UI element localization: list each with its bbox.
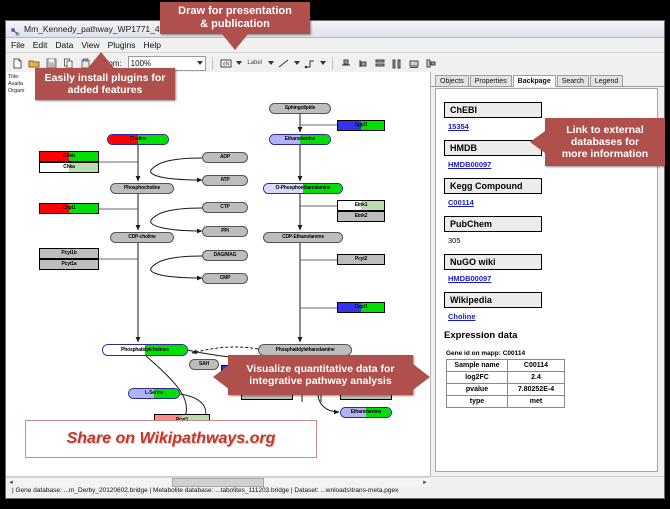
callout-plugins-text: Easily install plugins foradded features	[45, 72, 166, 96]
nugo-link[interactable]: HMDB00097	[448, 274, 649, 283]
callout-plugins-arrow	[88, 52, 114, 68]
distribute-vertical-icon[interactable]	[373, 56, 387, 70]
pathway-node-cdp_ethanolamine[interactable]: CDP-Ethanolamine	[263, 232, 343, 243]
pubchem-header: PubChem	[444, 216, 542, 232]
node-label: Cept1	[355, 305, 368, 310]
pathway-node-etnk2[interactable]: Etnk2	[337, 211, 385, 222]
cell-key: type	[447, 396, 508, 408]
node-label: ATP	[220, 178, 229, 183]
node-label: Etnk1	[355, 203, 368, 208]
table-row: log2FC 2.4	[447, 372, 565, 384]
pathway-node-chkb[interactable]: Chkb	[39, 151, 99, 162]
pathway-node-ppi[interactable]: PPi	[202, 226, 248, 237]
callout-visualize-arrow-left	[213, 364, 230, 390]
tab-search[interactable]: Search	[557, 75, 589, 86]
kegg-link[interactable]: C00114	[448, 198, 649, 207]
wikipedia-header: Wikipedia	[444, 292, 542, 308]
canvas-hscrollbar[interactable]: ◄ ►	[6, 477, 430, 487]
node-label: SAH	[199, 362, 209, 367]
node-label: Chkb	[63, 154, 75, 159]
node-label: Chka	[63, 165, 74, 170]
svg-text:dN: dN	[222, 61, 229, 67]
pathway-node-ctp[interactable]: CTP	[202, 202, 248, 213]
chevron-down-icon[interactable]	[236, 61, 242, 65]
stack-icon[interactable]	[407, 56, 421, 70]
hmdb-header: HMDB	[444, 140, 542, 156]
cell-value: C00114	[508, 360, 565, 372]
node-label: L-Serine	[145, 391, 163, 396]
node-label: Phosphocholine	[124, 186, 160, 191]
pathway-node-cdp_choline[interactable]: CDP-choline	[110, 232, 174, 243]
cell-value: met	[508, 396, 565, 408]
pathway-node-ethanolamine_top[interactable]: Ethanolamine	[269, 134, 331, 145]
pathway-node-phosphatidylcholines[interactable]: Phosphatidylcholines	[102, 344, 188, 356]
node-label: Pcyt2	[355, 257, 367, 262]
node-label: Pcyt1b	[61, 251, 76, 256]
node-label: Ethanolamine	[285, 137, 315, 142]
chebi-header: ChEBI	[444, 102, 542, 118]
distribute-horizontal-icon[interactable]	[390, 56, 404, 70]
menu-help[interactable]: Help	[144, 40, 161, 50]
node-label: Phosphatidylethanolamine	[276, 348, 335, 353]
pathway-node-sgpl1[interactable]: Sgpl1	[337, 120, 385, 131]
node-label: CDP-choline	[128, 235, 156, 240]
node-label: Sphingolipids	[285, 106, 315, 111]
menu-file[interactable]: File	[11, 40, 25, 50]
label-icon[interactable]: Label	[245, 56, 265, 70]
group-icon[interactable]	[424, 56, 438, 70]
menu-edit[interactable]: Edit	[33, 40, 48, 50]
callout-links-text: Link to externaldatabases formore inform…	[562, 124, 648, 160]
tab-legend[interactable]: Legend	[590, 75, 623, 86]
cell-value: 7.80252E-4	[508, 384, 565, 396]
callout-draw: Draw for presentation& publication	[160, 2, 310, 34]
pathway-node-phosphocholine[interactable]: Phosphocholine	[110, 183, 174, 194]
callout-links-arrow	[530, 131, 545, 153]
tab-properties[interactable]: Properties	[470, 75, 512, 86]
table-row: pvalue 7.80252E-4	[447, 384, 565, 396]
callout-visualize-text: Visualize quantitative data forintegrati…	[246, 363, 394, 387]
side-panel-tabs: Objects Properties Backpage Search Legen…	[431, 72, 664, 87]
pathway-node-cept1[interactable]: Cept1	[337, 302, 385, 313]
pathway-node-sphingolipids[interactable]: Sphingolipids	[269, 103, 331, 114]
pathway-node-adp[interactable]: ADP	[202, 152, 248, 163]
pathway-node-chpt1[interactable]: Chpt1	[39, 203, 99, 214]
expression-data-title: Expression data	[444, 330, 649, 341]
pathway-node-cmp[interactable]: CMP	[202, 273, 248, 284]
node-label: Sgpl1	[355, 123, 368, 128]
node-label: CMP	[220, 276, 231, 281]
line-icon[interactable]	[277, 56, 291, 70]
menu-plugins[interactable]: Plugins	[108, 40, 136, 50]
node-label: Etnk2	[355, 214, 368, 219]
pathway-canvas[interactable]: Title: Availa Organi	[6, 72, 431, 476]
zoom-value: 100%	[131, 59, 151, 68]
pathway-node-dagmag[interactable]: DAG/MAG	[202, 250, 248, 261]
callout-draw-arrow	[222, 34, 248, 50]
node-label: Pcyt1a	[62, 262, 77, 267]
menu-data[interactable]: Data	[55, 40, 73, 50]
gene-id-line: Gene id on mapp: C00114	[446, 350, 649, 357]
pathway-node-pcyt1a[interactable]: Pcyt1a	[39, 259, 99, 270]
chevron-down-icon[interactable]	[294, 61, 300, 65]
node-label: ADP	[220, 155, 230, 160]
node-label: Phosphatidylcholines	[121, 348, 169, 353]
scroll-left-icon[interactable]: ◄	[6, 480, 16, 486]
node-label: Ethanolamine	[351, 410, 381, 415]
cell-key: Sample name	[447, 360, 508, 372]
pathway-node-pcyt2[interactable]: Pcyt2	[337, 254, 385, 265]
kegg-header: Kegg Compound	[444, 178, 542, 194]
chevron-down-icon[interactable]	[268, 61, 274, 65]
pathway-node-atp[interactable]: ATP	[202, 175, 248, 186]
node-label: CDP-Ethanolamine	[282, 235, 324, 240]
align-top-icon[interactable]	[339, 56, 353, 70]
datanode-icon[interactable]: dN	[219, 56, 233, 70]
node-label: Choline	[130, 137, 147, 142]
nugo-header: NuGO wiki	[444, 254, 542, 270]
callout-plugins: Easily install plugins foradded features	[35, 68, 175, 100]
node-label: CTP	[220, 205, 229, 210]
cell-value: 2.4	[508, 372, 565, 384]
tab-backpage[interactable]: Backpage	[513, 75, 556, 87]
node-label: O-Phosphoethanolamine	[276, 186, 331, 191]
pathway-node-lserine_left[interactable]: L-Serine	[128, 388, 180, 399]
cell-key: log2FC	[447, 372, 508, 384]
wikipedia-link[interactable]: Choline	[448, 312, 649, 321]
chevron-down-icon	[197, 61, 203, 65]
callout-draw-text: Draw for presentation& publication	[178, 5, 292, 30]
align-left-icon[interactable]	[356, 56, 370, 70]
pathway-node-o_phosphoethanolamine[interactable]: O-Phosphoethanolamine	[263, 183, 343, 194]
table-row: type met	[447, 396, 565, 408]
statusbar: ◄ ► | Gene database: ...m_Derby_20120602…	[6, 476, 664, 498]
pathway-node-chka[interactable]: Chka	[39, 162, 99, 173]
screenshot-root: Mm_Kennedy_pathway_WP1771_45176.gpml Fil…	[0, 0, 670, 509]
toolbar-separator	[332, 57, 333, 70]
chevron-down-icon[interactable]	[320, 61, 326, 65]
table-row: Sample name C00114	[447, 360, 565, 372]
pathway-node-etnk1[interactable]: Etnk1	[337, 200, 385, 211]
callout-share-text: Share on Wikipathways.org	[67, 430, 276, 448]
callout-visualize: Visualize quantitative data forintegrati…	[228, 355, 413, 395]
menubar: File Edit Data View Plugins Help	[6, 38, 664, 53]
cell-key: pvalue	[447, 384, 508, 396]
scroll-right-icon[interactable]: ►	[420, 480, 430, 486]
status-text: | Gene database: ...m_Derby_20120602.bri…	[12, 487, 398, 494]
node-label: DAG/MAG	[214, 253, 237, 258]
window-titlebar: Mm_Kennedy_pathway_WP1771_45176.gpml	[6, 21, 664, 38]
menu-view[interactable]: View	[81, 40, 99, 50]
scroll-thumb[interactable]	[172, 478, 264, 487]
pathway-node-pcyt1b[interactable]: Pcyt1b	[39, 248, 99, 259]
node-label: PPi	[221, 229, 228, 234]
tab-objects[interactable]: Objects	[435, 75, 469, 86]
pathvisio-icon	[10, 24, 20, 34]
toolbar-separator	[212, 57, 213, 70]
callout-share: Share on Wikipathways.org	[25, 420, 317, 458]
callout-links: Link to externaldatabases formore inform…	[545, 118, 665, 166]
pathway-node-ethanolamine_right[interactable]: Ethanolamine	[340, 407, 392, 418]
pathway-node-choline_top[interactable]: Choline	[107, 134, 169, 145]
callout-visualize-arrow-right	[413, 364, 430, 390]
expression-table: Sample name C00114 log2FC 2.4 pvalue 7.8…	[446, 359, 565, 408]
new-file-icon[interactable]	[10, 56, 24, 70]
connector-icon[interactable]	[303, 56, 317, 70]
node-label: Chpt1	[62, 206, 75, 211]
pubchem-value: 305	[448, 236, 649, 245]
